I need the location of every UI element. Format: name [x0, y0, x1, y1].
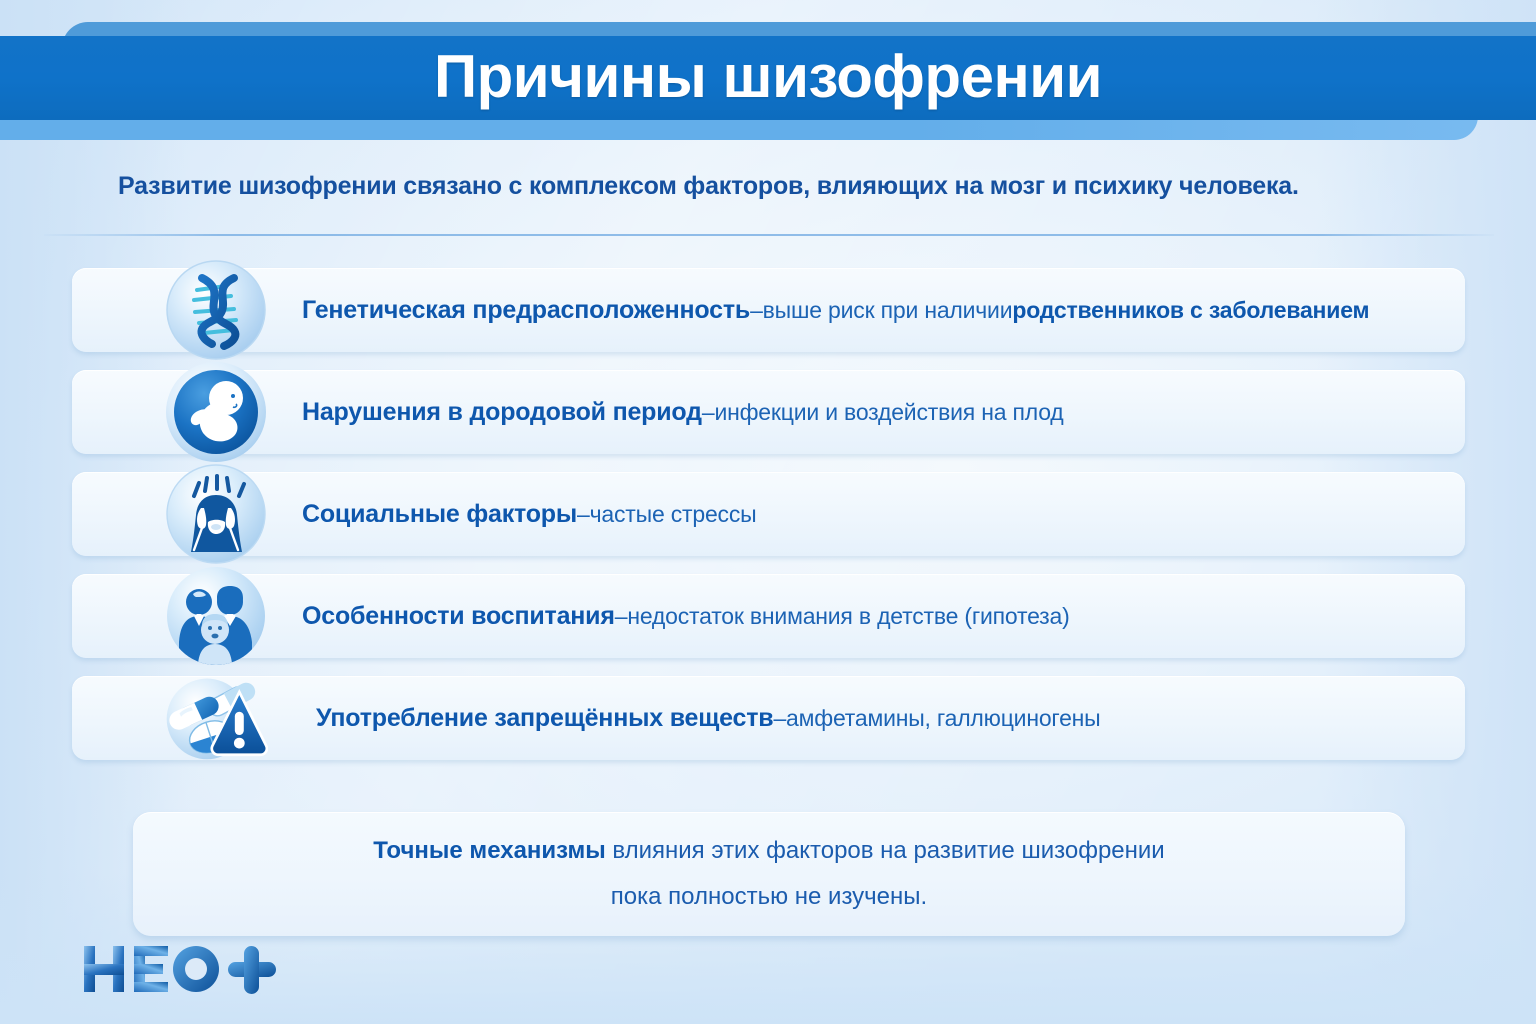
list-item-text: Употребление запрещённых веществ – амфет…: [316, 676, 1445, 760]
factor-description: недостаток внимания в детстве (гипотеза): [627, 603, 1069, 630]
factor-dash: –: [702, 399, 715, 426]
header-banner: Причины шизофрении: [0, 0, 1536, 150]
list-item[interactable]: Особенности воспитания – недостаток вним…: [72, 574, 1465, 658]
factor-title: Употребление запрещённых веществ: [316, 704, 773, 733]
factor-dash: –: [773, 705, 786, 732]
pills-warning-icon: [164, 666, 268, 770]
neo-plus-logo: [82, 940, 282, 998]
conclusion-line-1-rest: влияния этих факторов на развитие шизофр…: [606, 837, 1165, 864]
list-item-text: Особенности воспитания – недостаток вним…: [302, 574, 1445, 658]
factor-description: инфекции и воздействия на плод: [714, 399, 1063, 426]
family-icon: [164, 564, 268, 668]
conclusion-line-1: Точные механизмы влияния этих факторов н…: [373, 828, 1164, 874]
factor-list: Генетическая предрасположенность – выше …: [72, 268, 1465, 778]
conclusion-line-2: пока полностью не изучены.: [611, 874, 927, 920]
factor-dash: –: [577, 501, 590, 528]
factor-dash: –: [615, 603, 628, 630]
list-item-text: Нарушения в дородовой период – инфекции …: [302, 370, 1445, 454]
list-item[interactable]: Нарушения в дородовой период – инфекции …: [72, 370, 1465, 454]
factor-title: Генетическая предрасположенность: [302, 296, 750, 325]
factor-description: выше риск при наличии: [763, 297, 1013, 324]
factor-description: амфетамины, галлюциногены: [786, 705, 1101, 732]
conclusion-box: Точные механизмы влияния этих факторов н…: [133, 812, 1405, 936]
subtitle-text: Развитие шизофрении связано с комплексом…: [118, 172, 1448, 201]
factor-title: Особенности воспитания: [302, 602, 615, 631]
factor-dash: –: [750, 297, 763, 324]
conclusion-bold-lead: Точные механизмы: [373, 837, 605, 864]
infographic-poster: Причины шизофрении Развитие шизофрении с…: [0, 0, 1536, 1024]
header-divider: [44, 234, 1494, 236]
page-title: Причины шизофрении: [0, 38, 1536, 116]
list-item-text: Социальные факторы – частые стрессы: [302, 472, 1445, 556]
factor-title: Социальные факторы: [302, 500, 577, 529]
list-item-text: Генетическая предрасположенность – выше …: [302, 268, 1445, 352]
dna-helix-icon: [164, 258, 268, 362]
list-item[interactable]: Генетическая предрасположенность – выше …: [72, 268, 1465, 352]
stressed-person-icon: [164, 462, 268, 566]
factor-description: частые стрессы: [590, 501, 757, 528]
factor-description-emphasis: родственников с заболеванием: [1012, 297, 1369, 324]
factor-title: Нарушения в дородовой период: [302, 398, 702, 427]
list-item[interactable]: Употребление запрещённых веществ – амфет…: [72, 676, 1465, 760]
fetus-icon: [164, 360, 268, 464]
list-item[interactable]: Социальные факторы – частые стрессы: [72, 472, 1465, 556]
